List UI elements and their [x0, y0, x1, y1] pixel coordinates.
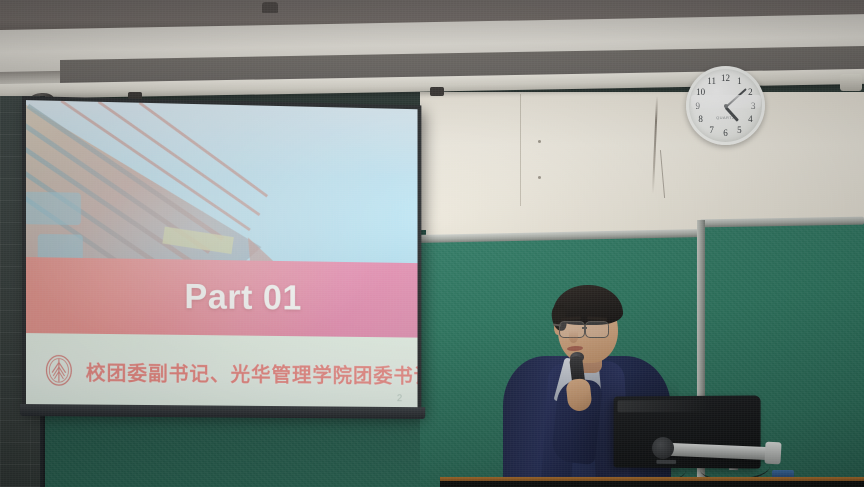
clock-numeral: 7: [709, 125, 714, 135]
wall-clock: 12 1 2 3 4 5 6 7 8 9 10 11 QUARTZ: [686, 66, 765, 145]
monitor-arm-joint: [652, 437, 674, 459]
slide-footer-row: 校团委副书记、光华管理学院团委书记鞠晓致辞: [26, 333, 418, 412]
rail-bracket: [430, 87, 444, 96]
clock-numeral: 12: [721, 73, 730, 83]
clock-numeral: 11: [707, 76, 716, 86]
clock-glass-glare: [691, 95, 761, 107]
lecture-hall-photo: 12 1 2 3 4 5 6 7 8 9 10 11 QUARTZ: [0, 0, 864, 487]
presenter-nose: [569, 331, 578, 343]
slide-subtitle: 校团委副书记、光华管理学院团委书记鞠晓致辞: [86, 356, 418, 389]
wall-screw: [538, 140, 541, 143]
slide-page-number: 2: [397, 393, 402, 404]
wall-panel-seam: [520, 94, 521, 206]
clock-numeral: 4: [748, 114, 753, 124]
eyeglasses-lens-right: [585, 321, 609, 338]
clock-numeral: 5: [737, 125, 742, 135]
projection-screen: Part 01 校团委副书记、光华管理学院团委书记鞠晓致辞 2: [22, 96, 421, 415]
slide-canvas: Part 01 校团委副书记、光华管理学院团委书记鞠晓致辞 2: [26, 100, 418, 411]
podium-desk-shadow: [440, 481, 864, 487]
clock-numeral: 1: [737, 76, 742, 86]
monitor-sheen: [617, 400, 711, 412]
clock-numeral: 8: [698, 114, 703, 124]
clock-numeral: 6: [723, 128, 728, 138]
rail-end-cap: [840, 74, 862, 91]
ceiling-speaker-icon: [262, 2, 278, 13]
wall-screw: [538, 176, 541, 179]
slide-part-title: Part 01: [26, 257, 418, 337]
presentation-slide: Part 01 校团委副书记、光华管理学院团委书记鞠晓致辞 2: [26, 100, 418, 411]
pku-seal-logo: [42, 353, 76, 387]
eyeglasses-bridge: [582, 327, 587, 329]
